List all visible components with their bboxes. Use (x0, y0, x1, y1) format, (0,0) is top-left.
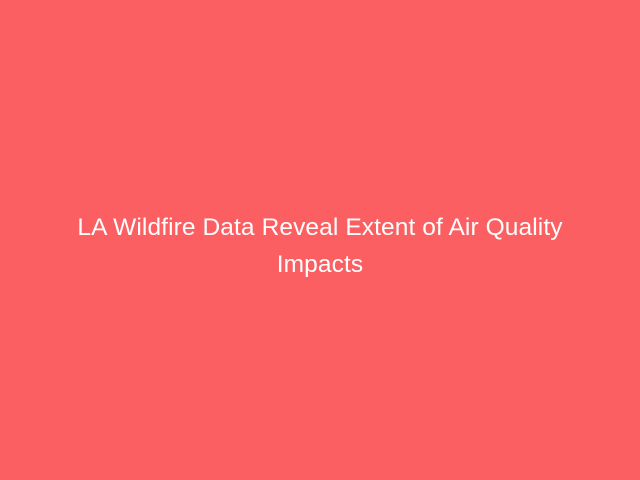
page-title: LA Wildfire Data Reveal Extent of Air Qu… (60, 209, 580, 283)
headline-block: LA Wildfire Data Reveal Extent of Air Qu… (0, 209, 640, 283)
share-card: LA Wildfire Data Reveal Extent of Air Qu… (0, 0, 640, 480)
